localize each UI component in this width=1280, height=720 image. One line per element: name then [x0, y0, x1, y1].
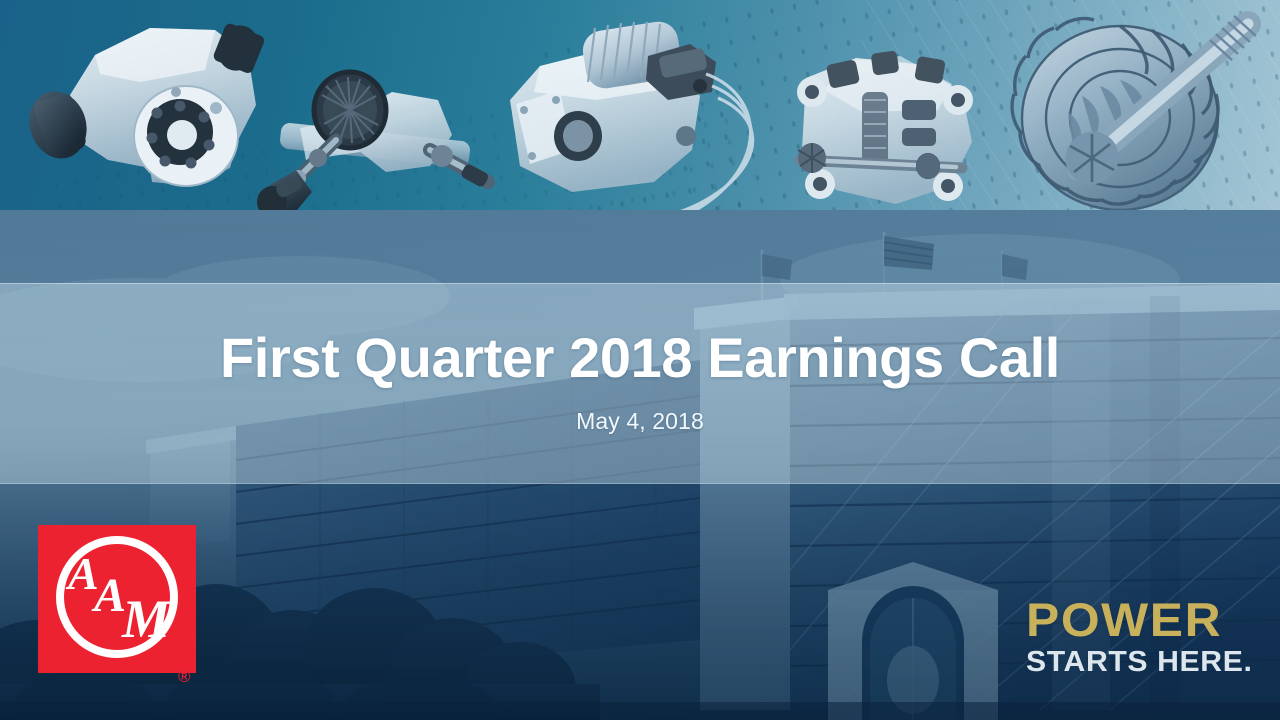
- product-power-transfer-unit: [797, 50, 973, 204]
- registered-trademark-mark: ®: [178, 668, 191, 685]
- product-transfer-case: [21, 19, 266, 186]
- svg-text:A: A: [91, 569, 126, 622]
- svg-text:M: M: [121, 589, 172, 649]
- page-title: First Quarter 2018 Earnings Call: [220, 330, 1060, 386]
- tagline-power: POWER: [1026, 597, 1257, 643]
- earnings-call-title-slide: First Quarter 2018 Earnings Call May 4, …: [0, 0, 1280, 720]
- title-block: First Quarter 2018 Earnings Call May 4, …: [0, 283, 1280, 484]
- aam-logo-mark: A A M: [38, 525, 196, 673]
- tagline-starts-here: STARTS HERE.: [1026, 647, 1252, 677]
- brand-tagline: POWER STARTS HERE.: [1026, 597, 1244, 677]
- product-electric-drive-unit: [510, 19, 753, 233]
- aam-logo: A A M: [38, 525, 196, 673]
- product-ring-and-pinion-gear-set: [1012, 16, 1256, 210]
- presentation-date: May 4, 2018: [576, 408, 704, 435]
- product-rear-axle-assembly: [257, 72, 490, 218]
